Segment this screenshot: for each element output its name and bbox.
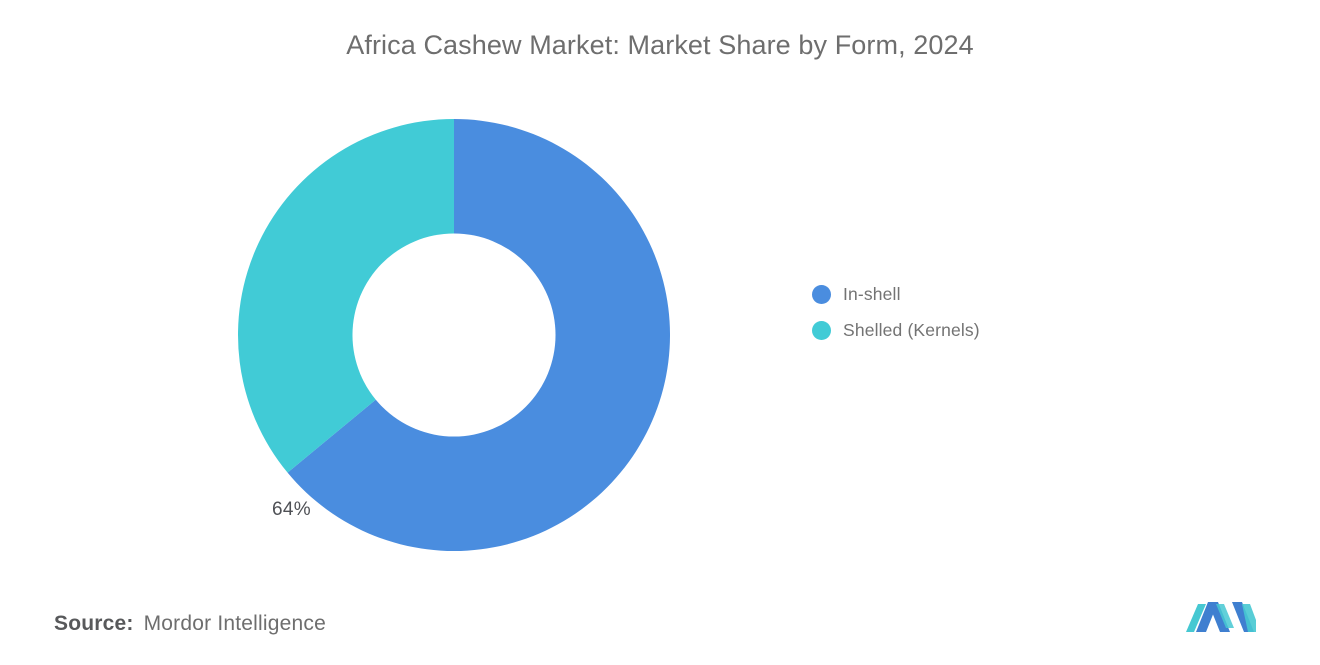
source-value: Mordor Intelligence <box>144 612 326 636</box>
donut-hole <box>352 233 555 436</box>
page-title: Africa Cashew Market: Market Share by Fo… <box>0 30 1320 61</box>
source-label: Source: <box>54 612 134 636</box>
legend-label-shelled-kernels: Shelled (Kernels) <box>843 320 980 341</box>
slice-label-in-shell: 64% <box>272 499 311 521</box>
donut-chart: 64% <box>238 119 670 551</box>
legend-swatch-icon-shelled-kernels <box>812 321 831 340</box>
mordor-intelligence-logo-icon <box>1186 598 1256 638</box>
legend-label-in-shell: In-shell <box>843 284 901 305</box>
donut-chart-svg <box>238 119 670 551</box>
legend-item-shelled-kernels[interactable]: Shelled (Kernels) <box>812 319 980 341</box>
chart-legend: In-shell Shelled (Kernels) <box>812 283 980 341</box>
legend-swatch-icon-in-shell <box>812 285 831 304</box>
source-attribution: Source: Mordor Intelligence <box>54 612 326 636</box>
legend-item-in-shell[interactable]: In-shell <box>812 283 980 305</box>
